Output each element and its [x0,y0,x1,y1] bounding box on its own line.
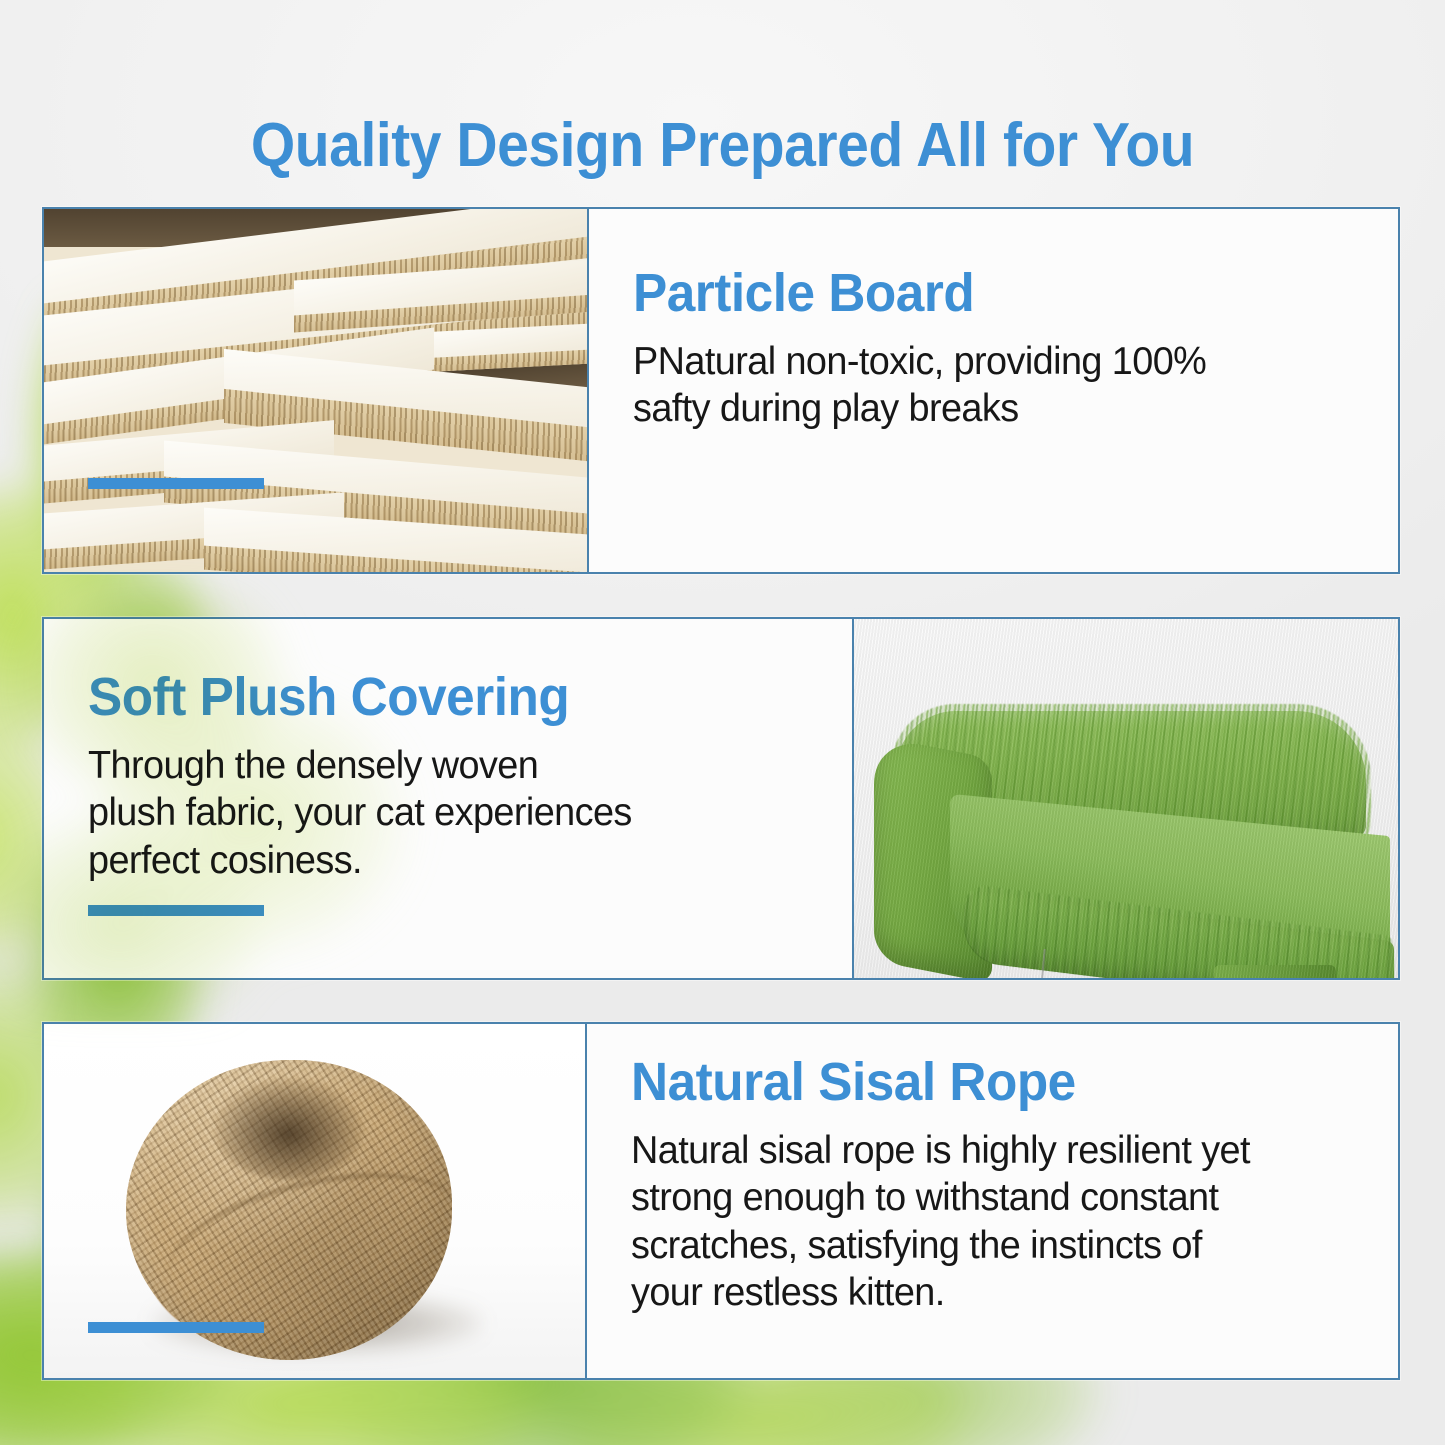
card-body-particle-board: PNatural non-toxic, providing 100% safty… [633,338,1332,433]
body-line: perfect cosiness. [88,837,786,885]
body-line: your restless kitten. [631,1269,1332,1317]
body-line: Natural sisal rope is highly resilient y… [631,1127,1332,1175]
body-line: safty during play breaks [633,385,1332,433]
card-body-soft-plush-covering: Through the densely woven plush fabric, … [88,742,786,885]
feature-card-particle-board: Particle Board PNatural non-toxic, provi… [42,207,1400,574]
body-line: scratches, satisfying the instincts of [631,1222,1332,1270]
photo-green-plush-perch [854,619,1398,978]
body-line: PNatural non-toxic, providing 100% [633,338,1332,386]
particle-board-text: Particle Board PNatural non-toxic, provi… [589,209,1398,572]
particle-board-image [44,209,589,572]
accent-bar-particle-board [88,478,264,489]
accent-bar-natural-sisal-rope [88,1322,264,1333]
infographic-canvas: Quality Design Prepared All for You [0,0,1445,1445]
feature-card-soft-plush-covering: Soft Plush Covering Through the densely … [42,617,1400,980]
body-line: plush fabric, your cat experiences [88,789,786,837]
card-title-particle-board: Particle Board [633,265,1318,322]
photo-particle-board [44,209,587,572]
soft-plush-image [854,619,1398,978]
accent-bar-soft-plush-covering [88,905,264,916]
feature-card-natural-sisal-rope: Natural Sisal Rope Natural sisal rope is… [42,1022,1400,1380]
card-title-natural-sisal-rope: Natural Sisal Rope [631,1054,1318,1111]
card-title-soft-plush-covering: Soft Plush Covering [88,669,772,726]
soft-plush-text: Soft Plush Covering Through the densely … [44,619,854,978]
body-line: strong enough to withstand constant [631,1174,1332,1222]
page-title: Quality Design Prepared All for You [58,110,1387,181]
sisal-rope-text: Natural Sisal Rope Natural sisal rope is… [587,1024,1398,1378]
card-body-natural-sisal-rope: Natural sisal rope is highly resilient y… [631,1127,1332,1317]
body-line: Through the densely woven [88,742,786,790]
